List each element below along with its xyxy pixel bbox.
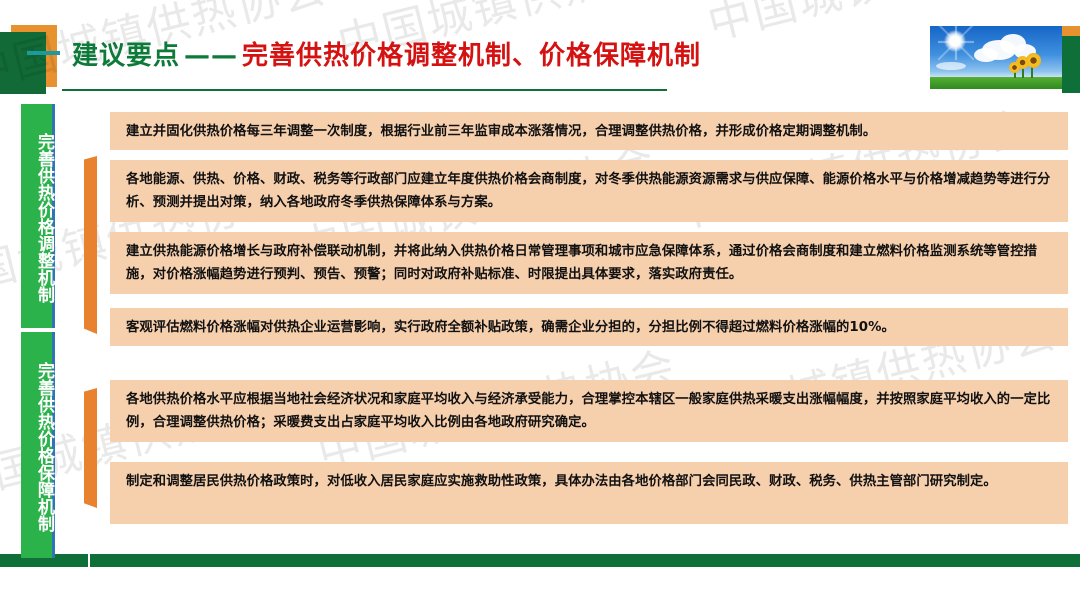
sidebar-tab-price-guarantee[interactable]: 完善供热价格保障机制 (21, 332, 55, 558)
sunflower-icon (1009, 62, 1020, 73)
footer-bar (0, 554, 1080, 567)
brace-connector-top (84, 156, 97, 334)
grass-band (930, 77, 1063, 89)
page-title-lead: 建议要点 (72, 41, 180, 71)
decor-chip-teal (27, 51, 60, 55)
footer-bar-tick (88, 554, 90, 567)
brace-connector-bottom (84, 388, 97, 508)
content-box: 各地供热价格水平应根据当地社会经济状况和家庭平均收入与经济承受能力，合理掌控本辖… (110, 380, 1068, 442)
cloud-shape (974, 48, 998, 62)
content-box: 客观评估燃料价格涨幅对供热企业运营影响，实行政府全额补贴政策，确需企业分担的，分… (110, 308, 1068, 346)
content-box: 各地能源、供热、价格、财政、税务等行政部门应建立年度供热价格会商制度，对冬季供热… (110, 160, 1068, 222)
content-box: 建立供热能源价格增长与政府补偿联动机制，并将此纳入供热价格日常管理事项和城市应急… (110, 232, 1068, 294)
decor-block-green (0, 32, 46, 94)
sun-icon (944, 30, 966, 52)
page-title-rest: 完善供热价格调整机制、价格保障机制 (242, 41, 701, 71)
sidebar-tab-price-adjustment[interactable]: 完善供热价格调整机制 (21, 104, 55, 328)
decor-right-green (1062, 31, 1080, 93)
page-title-dash: —— (180, 41, 242, 71)
cloud-shape (936, 62, 966, 70)
page-title: 建议要点——完善供热价格调整机制、价格保障机制 (72, 35, 701, 72)
decor-right-orange (1062, 26, 1080, 36)
sunflower-icon (1026, 53, 1041, 68)
slide-canvas: 中国城镇供热协会 中国城镇供热协会 中国城镇供热协会 中国城镇供热协会 中国城镇… (0, 0, 1080, 608)
content-box: 制定和调整居民供热价格政策时，对低收入居民家庭应实施救助性政策，具体办法由各地价… (110, 462, 1068, 524)
content-box: 建立并固化供热价格每三年调整一次制度，根据行业前三年监审成本涨落情况，合理调整供… (110, 112, 1068, 150)
title-divider (62, 89, 667, 91)
header-photo (930, 26, 1063, 89)
